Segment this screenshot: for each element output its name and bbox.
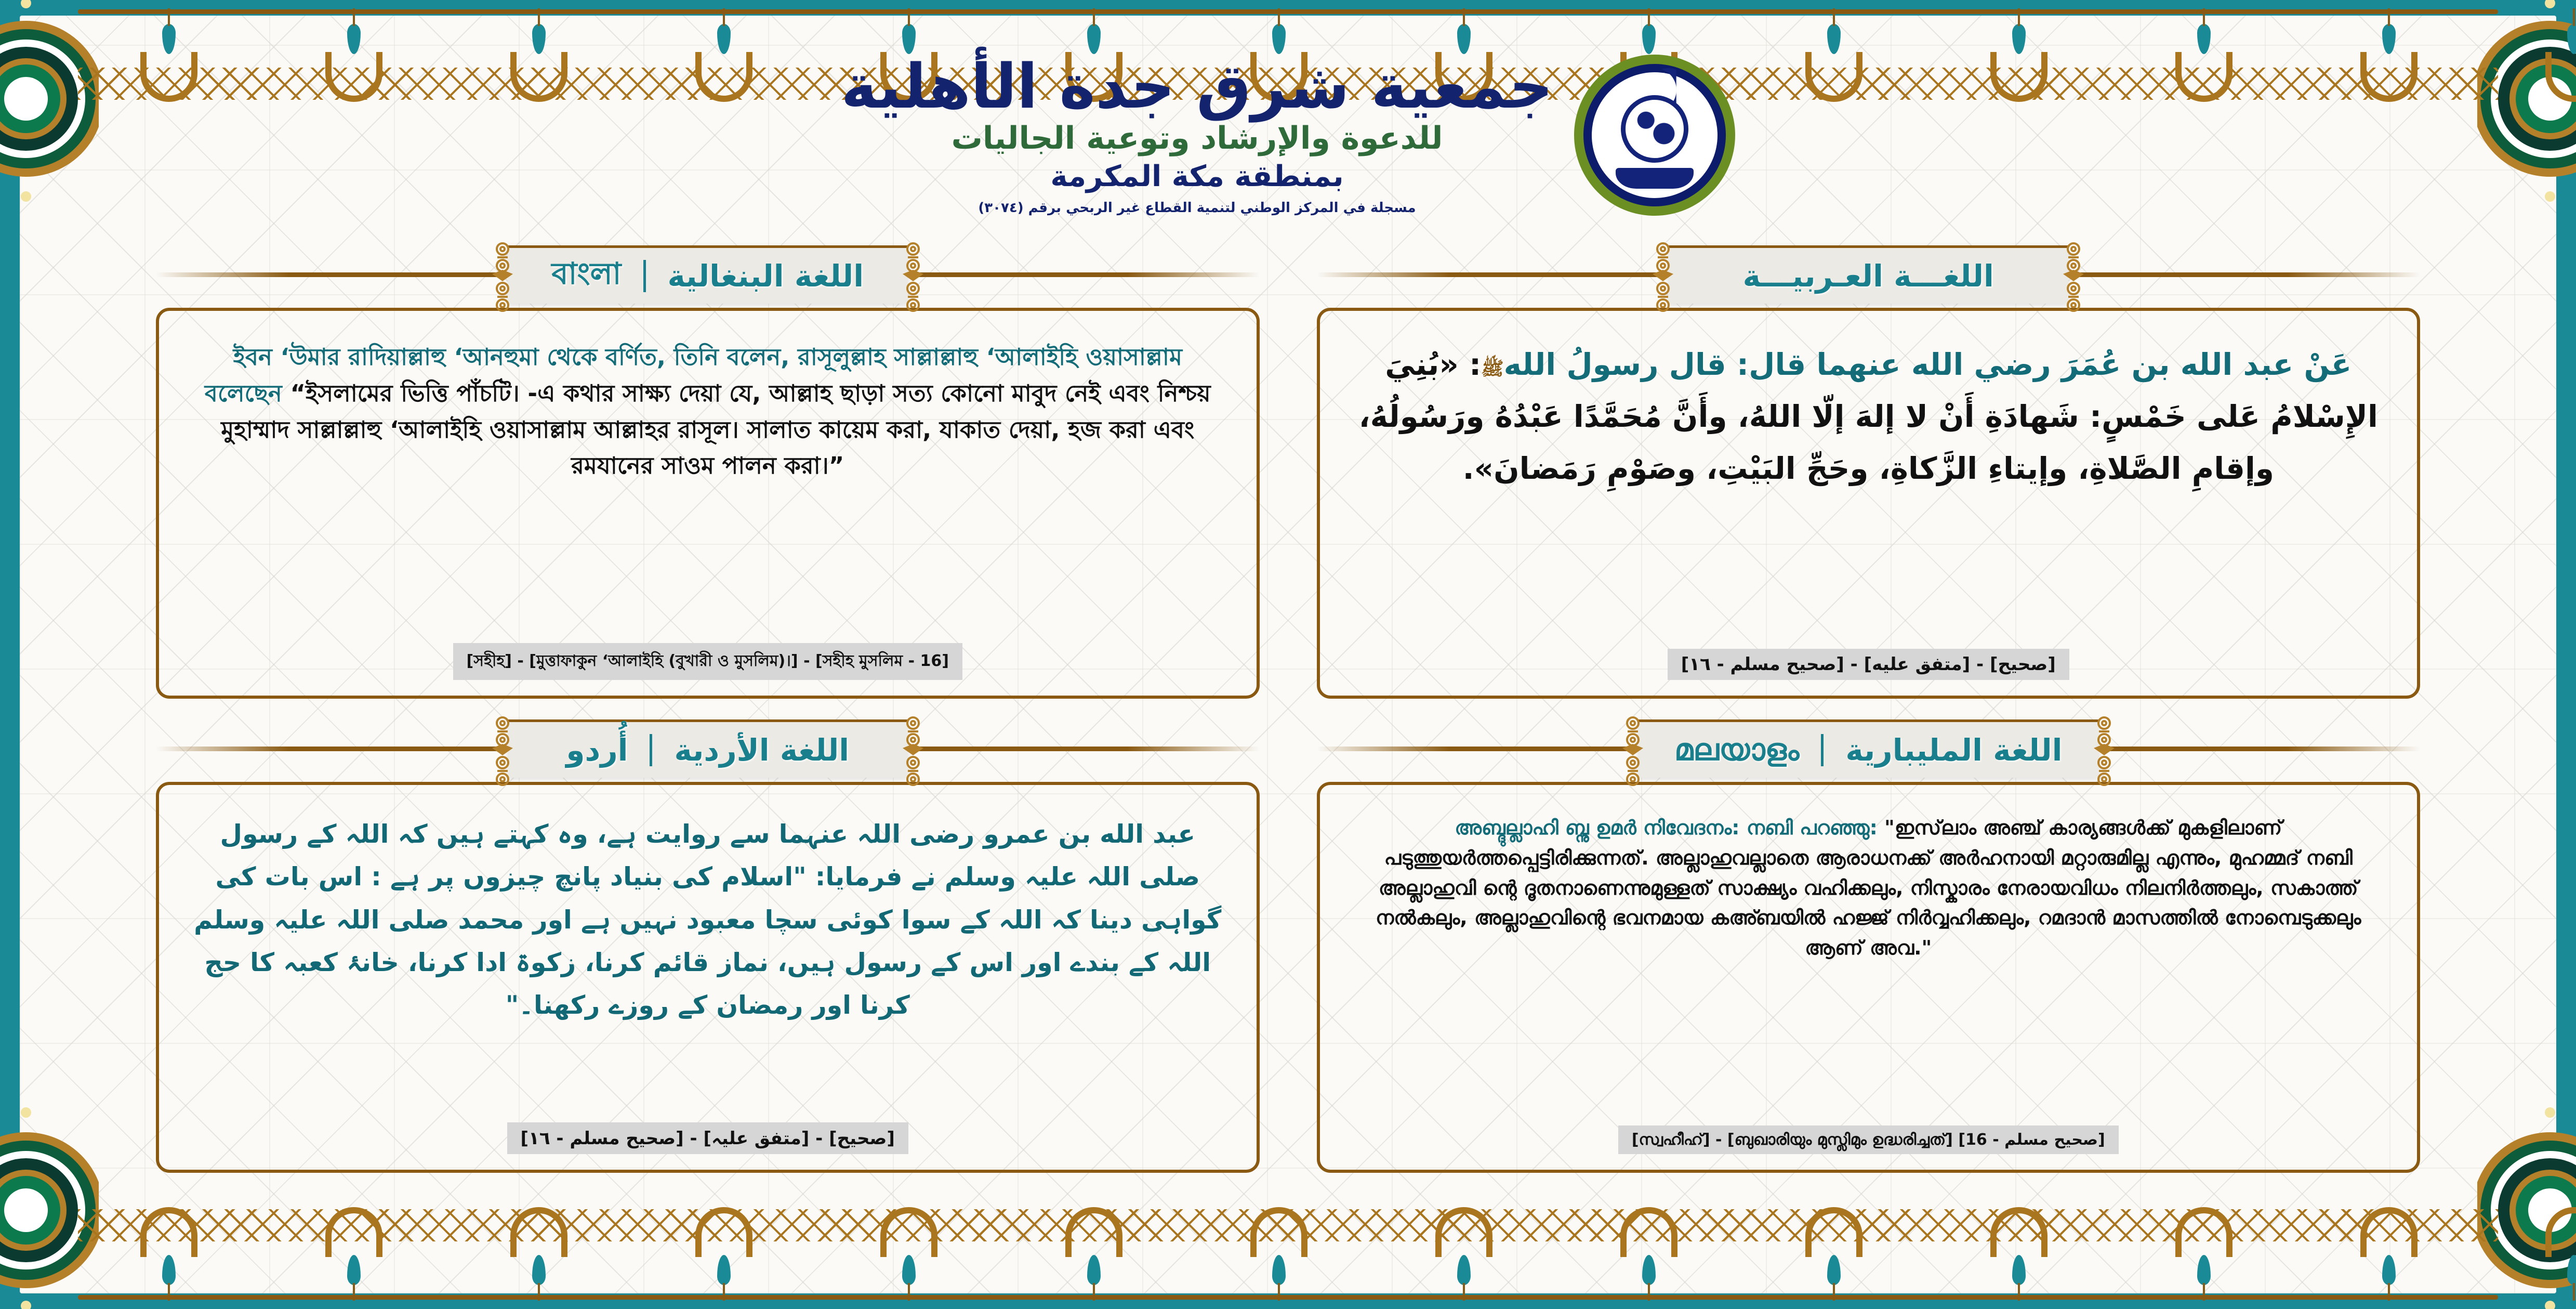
scroll-flourish-right-icon bbox=[902, 239, 926, 316]
scroll-flourish-left-icon bbox=[1650, 239, 1674, 316]
panel-title-bar-arabic: اللغـــة العـربيـــة bbox=[1317, 244, 2421, 305]
panel-urdu: أُردو اللغة الأردية bbox=[156, 718, 1260, 1174]
hadith-text-arabic: عَنْ عبد الله بن عُمَرَ رضي الله عنهما ق… bbox=[1352, 339, 2385, 494]
citation-row-bengali: [সহীহ] - [মুত্তাফাকুন ‘আলাইহি (বুখারী ও … bbox=[191, 643, 1224, 680]
org-name: جمعية شرق جدة الأهلية bbox=[841, 55, 1553, 119]
citation-row-arabic: [صحيح] - [متفق عليه] - [صحيح مسلم - ١٦] bbox=[1352, 649, 2385, 680]
hadith-intro-malayalam: അബ്ദുല്ലാഹി ബ്നു ഉമർ നിവേദനം: നബി പറഞ്ഞു… bbox=[1455, 816, 1878, 839]
citation-row-malayalam: [സ്വഹീഹ്] - [ബുഖാരിയും മുസ്ലിമും ഉദ്ധരിച… bbox=[1352, 1125, 2385, 1154]
globe-icon bbox=[1621, 95, 1688, 163]
scroll-flourish-right-icon bbox=[2093, 713, 2117, 790]
hadith-text-malayalam: അബ്ദുല്ലാഹി ബ്നു ഉമർ നിവേദനം: നബി പറഞ്ഞു… bbox=[1352, 813, 2385, 963]
language-badge-bengali[interactable]: বাংলা اللغة البنغالية bbox=[508, 245, 908, 304]
scroll-flourish-right-icon bbox=[902, 713, 926, 790]
poster-root: جمعية شرق جدة الأهلية للدعوة والإرشاد وت… bbox=[0, 0, 2576, 1309]
language-name-native-urdu: أُردو bbox=[566, 732, 628, 768]
language-badge-urdu[interactable]: أُردو اللغة الأردية bbox=[508, 719, 908, 778]
salawat-icon: ﷺ bbox=[1481, 358, 1503, 379]
panel-title-bar-bengali: বাংলা اللغة البنغالية bbox=[156, 244, 1260, 305]
badge-divider bbox=[1821, 734, 1824, 766]
org-registration-line: مسجلة في المركز الوطني لتنمية القطاع غير… bbox=[841, 200, 1553, 216]
citation-arabic: [صحيح] - [متفق عليه] - [صحيح مسلم - ١٦] bbox=[1668, 649, 2069, 680]
org-region: بمنطقة مكة المكرمة bbox=[841, 158, 1553, 196]
language-name-native-bengali: বাংলা bbox=[551, 251, 621, 301]
badge-divider bbox=[650, 734, 652, 766]
language-name-arabic-malayalam: اللغة المليبارية bbox=[1845, 732, 2062, 768]
language-name-native-malayalam: മലയാളം bbox=[1674, 732, 1799, 768]
panel-title-bar-malayalam: മലയാളം اللغة المليبارية bbox=[1317, 718, 2421, 779]
panel-title-bar-urdu: أُردو اللغة الأردية bbox=[156, 718, 1260, 779]
scroll-flourish-right-icon bbox=[2062, 239, 2086, 316]
scroll-flourish-left-icon bbox=[1620, 713, 1644, 790]
panel-bengali: বাংলা اللغة البنغالية bbox=[156, 244, 1260, 700]
poster-header: جمعية شرق جدة الأهلية للدعوة والإرشاد وت… bbox=[0, 31, 2576, 239]
hadith-text-urdu: عبد الله بن عمرو رضی اللہ عنہما سے روایت… bbox=[191, 813, 1224, 1027]
language-badge-arabic[interactable]: اللغـــة العـربيـــة bbox=[1668, 245, 2068, 304]
org-subtitle: للدعوة والإرشاد وتوعية الجاليات bbox=[841, 119, 1553, 158]
teal-bud-ornament bbox=[2567, 1255, 2576, 1285]
language-name-arabic-arabic: اللغـــة العـربيـــة bbox=[1743, 258, 1994, 294]
hadith-text-bengali: ইবন ‘উমার রাদিয়াল্লাহু ‘আনহুমা থেকে বর্… bbox=[191, 339, 1224, 484]
language-panel-grid: বাংলা اللغة البنغالية bbox=[156, 244, 2420, 1174]
panel-malayalam: മലയാളം اللغة المليبارية bbox=[1317, 718, 2421, 1174]
hadith-card-arabic: عَنْ عبد الله بن عُمَرَ رضي الله عنهما ق… bbox=[1317, 308, 2421, 699]
language-name-arabic-bengali: اللغة البنغالية bbox=[668, 258, 864, 294]
hadith-intro-arabic: عَنْ عبد الله بن عُمَرَ رضي الله عنهما ق… bbox=[1504, 347, 2352, 382]
language-name-arabic-urdu: اللغة الأردية bbox=[674, 732, 849, 768]
citation-urdu: [صحیح] - [متفق علیہ] - [صحیح مسلم - ١٦] bbox=[507, 1122, 908, 1154]
citation-bengali: [সহীহ] - [মুত্তাফাকুন ‘আলাইহি (বুখারী ও … bbox=[453, 643, 962, 680]
book-icon bbox=[1616, 168, 1694, 189]
hadith-card-urdu: عبد الله بن عمرو رضی اللہ عنہما سے روایت… bbox=[156, 782, 1260, 1173]
hadith-body-bengali: “ইসলামের ভিত্তি পাঁচটি। -এ কথার সাক্ষ্য … bbox=[221, 379, 1210, 480]
badge-divider bbox=[643, 260, 646, 292]
panel-arabic: اللغـــة العـربيـــة ع bbox=[1317, 244, 2421, 700]
scroll-flourish-left-icon bbox=[490, 713, 514, 790]
citation-row-urdu: [صحیح] - [متفق علیہ] - [صحیح مسلم - ١٦] bbox=[191, 1122, 1224, 1154]
scroll-flourish-left-icon bbox=[490, 239, 514, 316]
globe-book-crescent-emblem bbox=[1574, 55, 1735, 216]
language-badge-malayalam[interactable]: മലയാളം اللغة المليبارية bbox=[1638, 719, 2099, 778]
hadith-card-malayalam: അബ്ദുല്ലാഹി ബ്നു ഉമർ നിവേദനം: നബി പറഞ്ഞു… bbox=[1317, 782, 2421, 1173]
organization-wordmark: جمعية شرق جدة الأهلية للدعوة والإرشاد وت… bbox=[841, 55, 1553, 216]
hadith-card-bengali: ইবন ‘উমার রাদিয়াল্লাহু ‘আনহুমা থেকে বর্… bbox=[156, 308, 1260, 699]
citation-malayalam: [സ്വഹീഹ്] - [ബുഖാരിയും മുസ്ലിമും ഉദ്ധരിച… bbox=[1618, 1125, 2119, 1154]
